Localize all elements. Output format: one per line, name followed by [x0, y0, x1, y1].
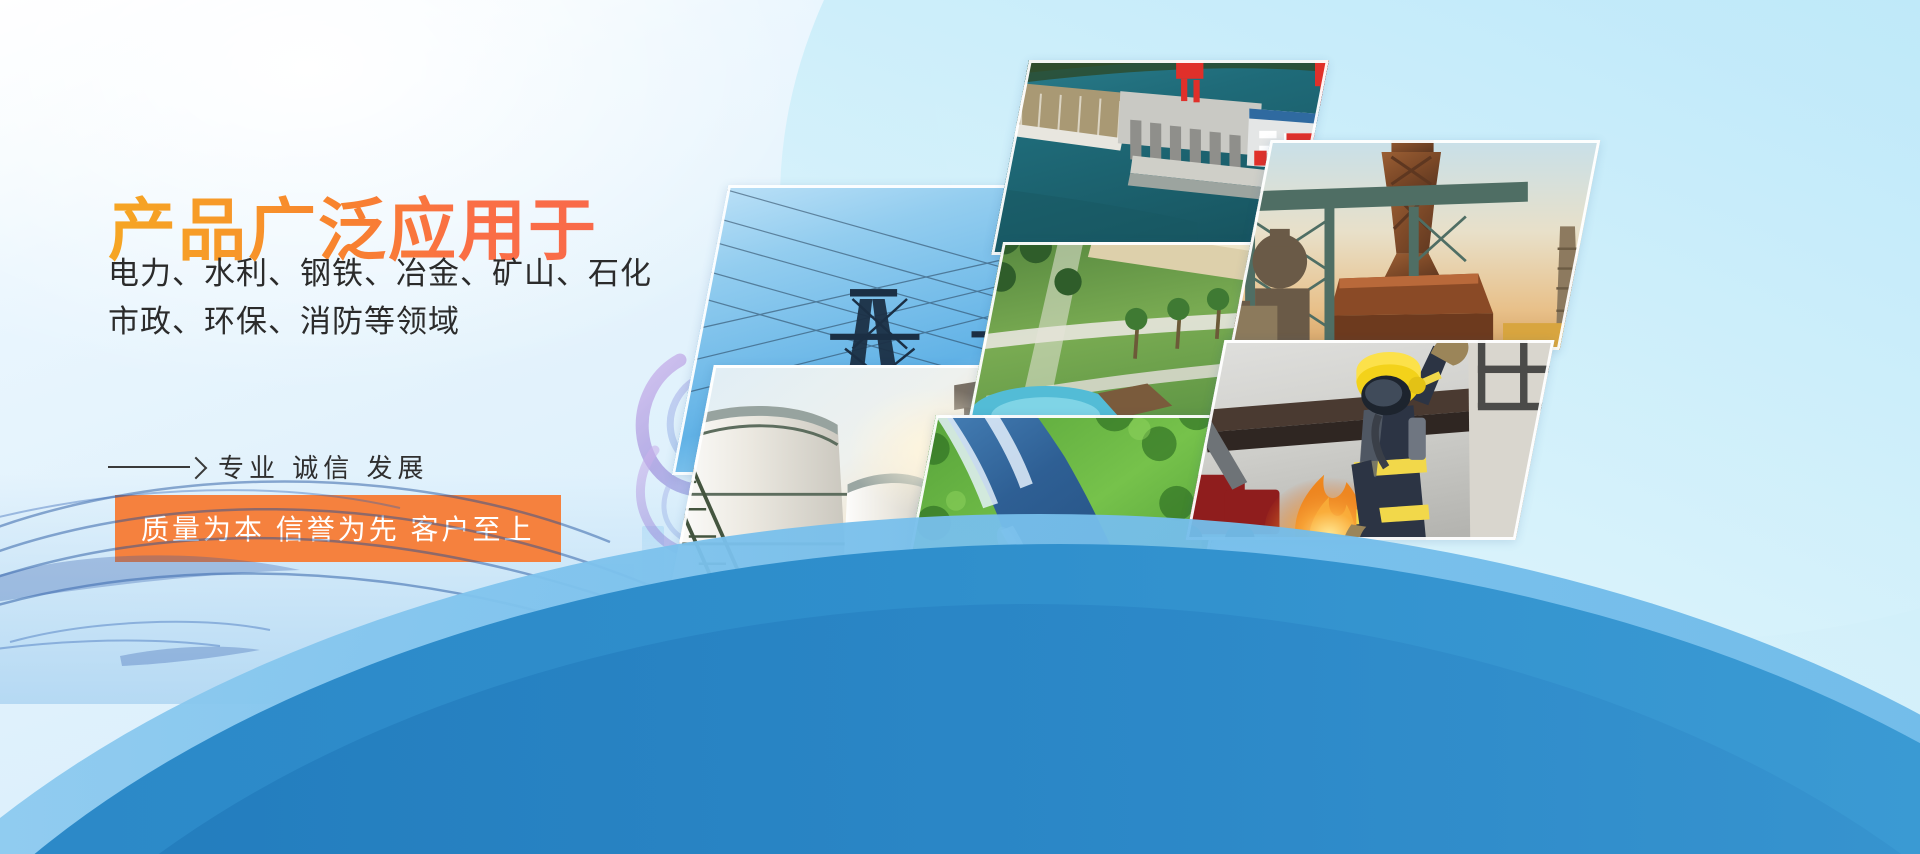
photo-firefighter-training	[1186, 340, 1555, 540]
promo-banner: 产品广泛应用于 电力、水利、钢铁、冶金、矿山、石化 市政、环保、消防等领域 专业…	[0, 0, 1920, 854]
photo-steel-metallurgy-plant	[1230, 140, 1601, 350]
subtitle-line-2: 市政、环保、消防等领域	[108, 296, 460, 341]
subtitle-line-1: 电力、水利、钢铁、冶金、矿山、石化	[108, 248, 652, 293]
